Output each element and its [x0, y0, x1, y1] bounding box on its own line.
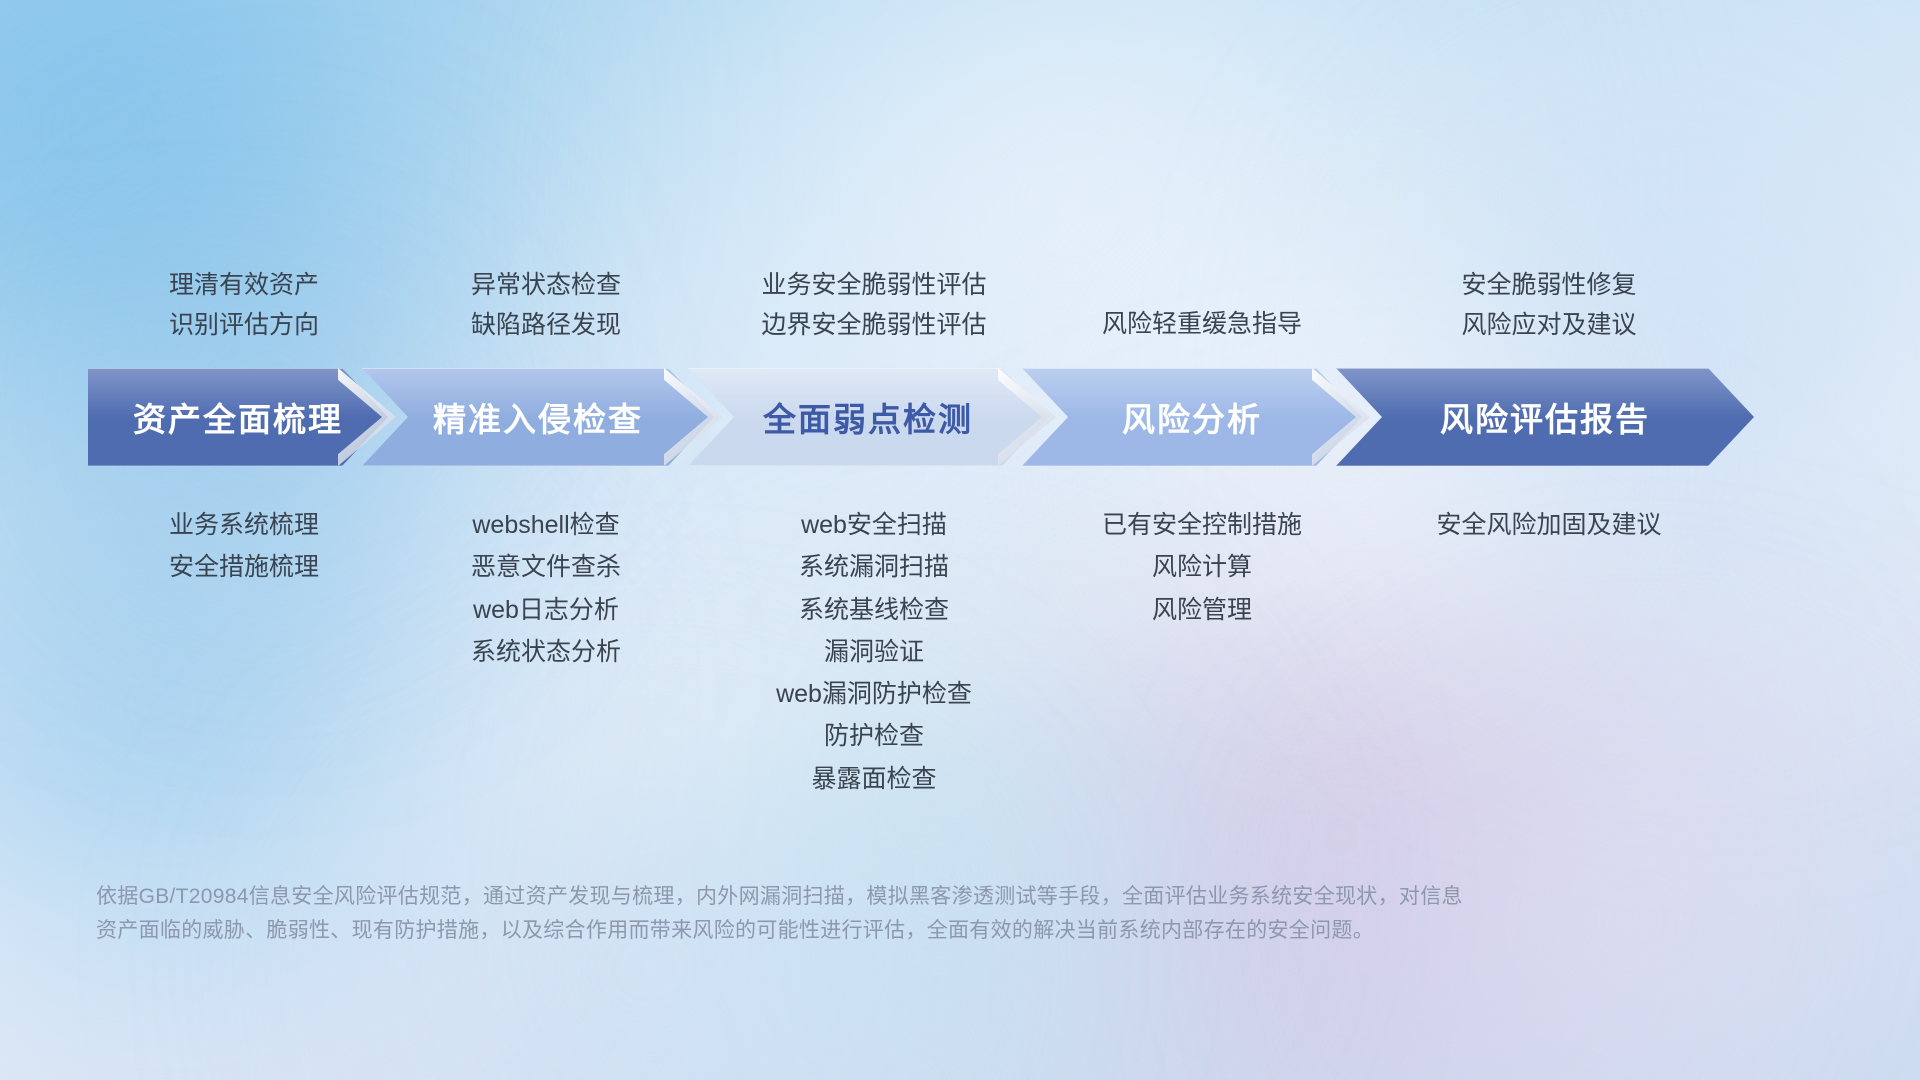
- chevron-stage-5[interactable]: 风险评估报告: [1336, 368, 1754, 466]
- column-risk-analysis-top-item: 风险轻重缓急指导: [1102, 311, 1302, 337]
- column-intrusion-bottom-item: webshell检查: [472, 512, 619, 538]
- chevron-stage-1-label: 资产全面梳理: [133, 393, 343, 441]
- column-report-bottom-item: 安全风险加固及建议: [1437, 512, 1662, 538]
- column-weakness-top-item: 业务安全脆弱性评估: [762, 272, 987, 298]
- column-weakness-top-item: 边界安全脆弱性评估: [762, 312, 987, 338]
- column-asset-bottom-item: 安全措施梳理: [169, 554, 319, 580]
- column-weakness-bottom-item: 系统漏洞扫描: [799, 554, 949, 580]
- column-intrusion-bottom-item: 恶意文件查杀: [471, 554, 621, 580]
- column-weakness-bottom-item: 系统基线检查: [799, 597, 949, 623]
- column-asset-top-item: 识别评估方向: [169, 312, 319, 338]
- column-weakness-bottom-item: 防护检查: [824, 723, 924, 749]
- column-intrusion-bottom-item: 系统状态分析: [471, 639, 621, 665]
- column-risk-analysis-bottom-item: 风险计算: [1152, 554, 1252, 580]
- footer-line-2: 资产面临的威胁、脆弱性、现有防护措施，以及综合作用而带来风险的可能性进行评估，全…: [96, 914, 1616, 948]
- column-intrusion-top-item: 缺陷路径发现: [471, 312, 621, 338]
- column-weakness-bottom-item: 暴露面检查: [812, 766, 937, 792]
- column-report-top-item: 风险应对及建议: [1462, 312, 1637, 338]
- column-risk-analysis-bottom-item: 已有安全控制措施: [1102, 512, 1302, 538]
- column-asset-bottom-item: 业务系统梳理: [169, 512, 319, 538]
- column-intrusion-bottom-item: web日志分析: [473, 597, 619, 623]
- chevron-stage-1[interactable]: 资产全面梳理: [88, 368, 388, 466]
- chevron-stage-3-label: 全面弱点检测: [763, 393, 973, 441]
- column-report-top-item: 安全脆弱性修复: [1462, 272, 1637, 298]
- chevron-stage-4[interactable]: 风险分析: [1022, 368, 1362, 466]
- chevron-stage-2-label: 精准入侵检查: [433, 393, 643, 441]
- column-weakness-bottom-item: web漏洞防护检查: [776, 681, 972, 707]
- column-asset-top-item: 理清有效资产: [169, 272, 319, 298]
- column-weakness-bottom-item: 漏洞验证: [824, 639, 924, 665]
- chevron-stage-4-label: 风险分析: [1122, 393, 1262, 441]
- chevron-stage-5-label: 风险评估报告: [1440, 393, 1650, 441]
- footer-line-1: 依据GB/T20984信息安全风险评估规范，通过资产发现与梳理，内外网漏洞扫描，…: [96, 880, 1616, 914]
- process-diagram: 理清有效资产识别评估方向 异常状态检查缺陷路径发现 业务安全脆弱性评估边界安全脆…: [0, 0, 1920, 1080]
- chevron-stage-2[interactable]: 精准入侵检查: [362, 368, 714, 466]
- footer-description: 依据GB/T20984信息安全风险评估规范，通过资产发现与梳理，内外网漏洞扫描，…: [96, 880, 1616, 948]
- column-weakness-bottom-item: web安全扫描: [801, 512, 947, 538]
- column-risk-analysis-bottom-item: 风险管理: [1152, 597, 1252, 623]
- chevron-stage-3[interactable]: 全面弱点检测: [688, 368, 1048, 466]
- column-intrusion-top-item: 异常状态检查: [471, 272, 621, 298]
- chevron-stage-band: 资产全面梳理精准入侵检查全面弱点检测风险分析风险评估报告: [88, 368, 1832, 466]
